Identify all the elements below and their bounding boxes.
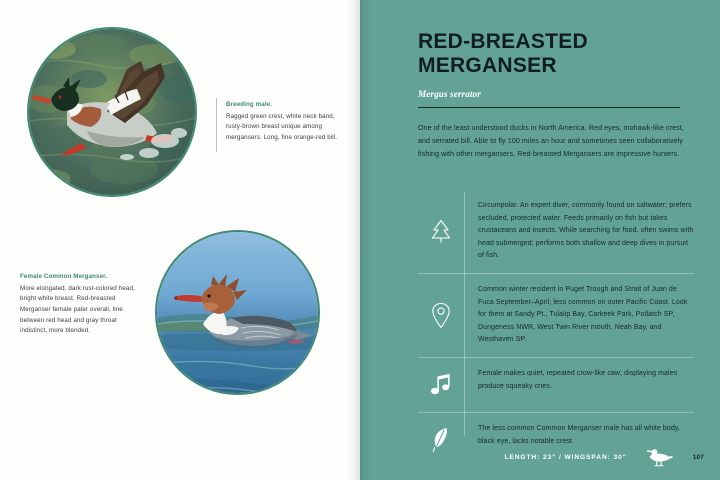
caption-leader-line bbox=[216, 98, 217, 152]
gutter-shadow-left bbox=[346, 0, 360, 480]
fact-column-divider bbox=[464, 192, 465, 436]
music-note-icon bbox=[418, 368, 464, 402]
caption-female-merganser-heading: Female Common Merganser. bbox=[20, 272, 142, 283]
caption-female-merganser-body: More elongated, dark rust-colored head, … bbox=[20, 285, 135, 335]
left-page: Breeding male. Ragged green crest, white… bbox=[0, 0, 360, 480]
female-merganser-photo bbox=[155, 230, 320, 395]
right-page: RED-BREASTED MERGANSER Mergus serrator O… bbox=[360, 0, 720, 480]
measurements-label: LENGTH: 23" / WINGSPAN: 30" bbox=[504, 454, 626, 461]
duck-silhouette-icon bbox=[643, 448, 673, 467]
gutter-shadow-right bbox=[360, 0, 372, 480]
book-spread: Breeding male. Ragged green crest, white… bbox=[0, 0, 720, 480]
fact-text-similar-species: The less common Common Merganser male ha… bbox=[464, 423, 694, 448]
scientific-name: Mergus serrator bbox=[418, 89, 693, 99]
intro-paragraph: One of the least understood ducks in Nor… bbox=[418, 122, 686, 161]
female-merganser-photo-image bbox=[157, 232, 318, 393]
breeding-male-photo bbox=[27, 27, 197, 197]
pine-tree-icon bbox=[418, 214, 464, 248]
page-title: RED-BREASTED MERGANSER bbox=[418, 30, 693, 79]
fact-text-habitat: Circumpolar. An expert diver, commonly f… bbox=[464, 200, 694, 263]
fact-row-locations: Common winter resident in Puget Trough a… bbox=[418, 273, 694, 357]
breeding-male-photo-image bbox=[29, 29, 195, 195]
title-divider bbox=[418, 107, 680, 108]
map-pin-icon bbox=[418, 298, 464, 332]
fact-row-habitat: Circumpolar. An expert diver, commonly f… bbox=[418, 192, 694, 273]
caption-breeding-male: Breeding male. Ragged green crest, white… bbox=[226, 100, 344, 144]
page-number: 107 bbox=[693, 454, 704, 461]
caption-breeding-male-heading: Breeding male. bbox=[226, 100, 344, 111]
caption-female-merganser: Female Common Merganser. More elongated,… bbox=[20, 272, 142, 337]
fact-text-voice: Female makes quiet, repeated crow-like c… bbox=[464, 368, 694, 393]
caption-breeding-male-body: Ragged green crest, white neck band, rus… bbox=[226, 113, 337, 141]
fact-rows: Circumpolar. An expert diver, commonly f… bbox=[418, 192, 694, 467]
fact-row-voice: Female makes quiet, repeated crow-like c… bbox=[418, 357, 694, 412]
page-footer: LENGTH: 23" / WINGSPAN: 30" bbox=[360, 448, 720, 467]
fact-text-locations: Common winter resident in Puget Trough a… bbox=[464, 284, 694, 347]
title-block: RED-BREASTED MERGANSER Mergus serrator bbox=[418, 30, 693, 108]
